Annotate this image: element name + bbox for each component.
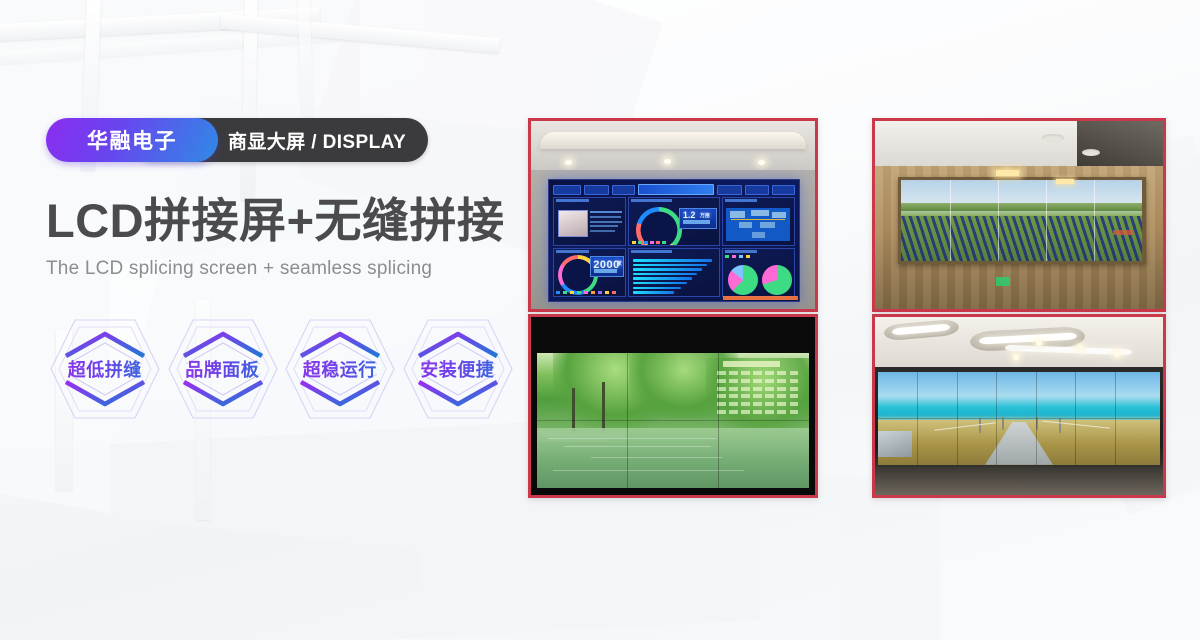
brand-pill-group: 商显大屏 / DISPLAY 华融电子 <box>46 118 218 162</box>
feature-badge-1[interactable]: 超低拼缝 <box>46 310 164 428</box>
feature-badge-2[interactable]: 品牌面板 <box>164 310 282 428</box>
photo-beach-boardwalk-content <box>875 317 1163 495</box>
banner-stage: 商显大屏 / DISPLAY 华融电子 LCD拼接屏+无缝拼接 The LCD … <box>0 0 1200 640</box>
headline: LCD拼接屏+无缝拼接 <box>46 196 516 246</box>
feature-badge-4[interactable]: 安装便捷 <box>399 310 517 428</box>
feature-badge-label: 超稳运行 <box>281 356 399 382</box>
feature-badge-label: 安装便捷 <box>399 356 517 382</box>
feature-badge-label: 品牌面板 <box>164 356 282 382</box>
subheadline: The LCD splicing screen + seamless splic… <box>46 258 516 280</box>
photo-dashboard-video-wall[interactable]: 1.2 万亩 <box>528 118 818 312</box>
feature-badge-row: 超低拼缝 品牌面板 <box>46 310 516 428</box>
product-photo-grid: 1.2 万亩 <box>528 118 1160 492</box>
brand-pill[interactable]: 华融电子 <box>46 118 218 162</box>
photo-lake-willow-content <box>531 317 815 495</box>
feature-badge-3[interactable]: 超稳运行 <box>281 310 399 428</box>
feature-badge-label: 超低拼缝 <box>46 356 164 382</box>
photo-dashboard-content: 1.2 万亩 <box>531 121 815 309</box>
photo-solar-farm-content <box>875 121 1163 309</box>
banner-copy: 商显大屏 / DISPLAY 华融电子 LCD拼接屏+无缝拼接 The LCD … <box>46 118 516 428</box>
photo-beach-boardwalk-video-wall[interactable] <box>872 314 1166 498</box>
photo-solar-farm-video-wall[interactable] <box>872 118 1166 312</box>
photo-lake-willow-video-wall[interactable] <box>528 314 818 498</box>
